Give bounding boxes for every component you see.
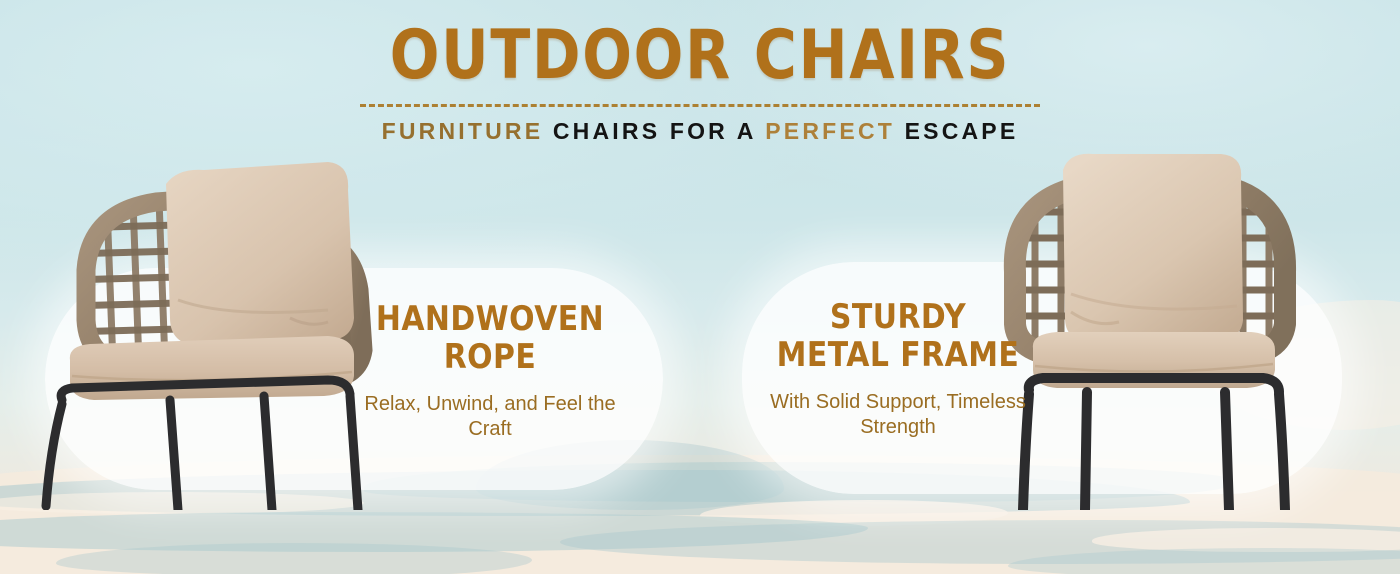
feature-title-sturdy-metal-frame: STURDY METAL FRAME — [777, 298, 1020, 374]
page-title: OUTDOOR CHAIRS — [98, 22, 1302, 90]
outdoor-chairs-banner: OUTDOOR CHAIRS FURNITURE CHAIRS FOR A PE… — [0, 0, 1400, 574]
feature-text-sturdy-metal-frame: STURDY METAL FRAME With Solid Support, T… — [760, 298, 1036, 439]
feature-text-handwoven-rope: HANDWOVEN ROPE Relax, Unwind, and Feel t… — [352, 300, 628, 441]
feature-subtitle-handwoven-rope: Relax, Unwind, and Feel the Craft — [352, 392, 628, 441]
rope-chair-angled-image — [28, 150, 408, 510]
feature-title-handwoven-rope: HANDWOVEN ROPE — [369, 300, 612, 376]
banner-header: OUTDOOR CHAIRS FURNITURE CHAIRS FOR A PE… — [0, 22, 1400, 145]
subtitle-part-3: PERFECT — [765, 118, 895, 144]
subtitle-part-1: FURNITURE — [382, 118, 544, 144]
subtitle-part-2: CHAIRS FOR A — [553, 118, 756, 144]
page-subtitle: FURNITURE CHAIRS FOR A PERFECT ESCAPE — [0, 118, 1400, 145]
subtitle-part-4: ESCAPE — [905, 118, 1019, 144]
dashed-divider-icon — [360, 104, 1040, 107]
feature-subtitle-sturdy-metal-frame: With Solid Support, Timeless Strength — [760, 390, 1036, 439]
